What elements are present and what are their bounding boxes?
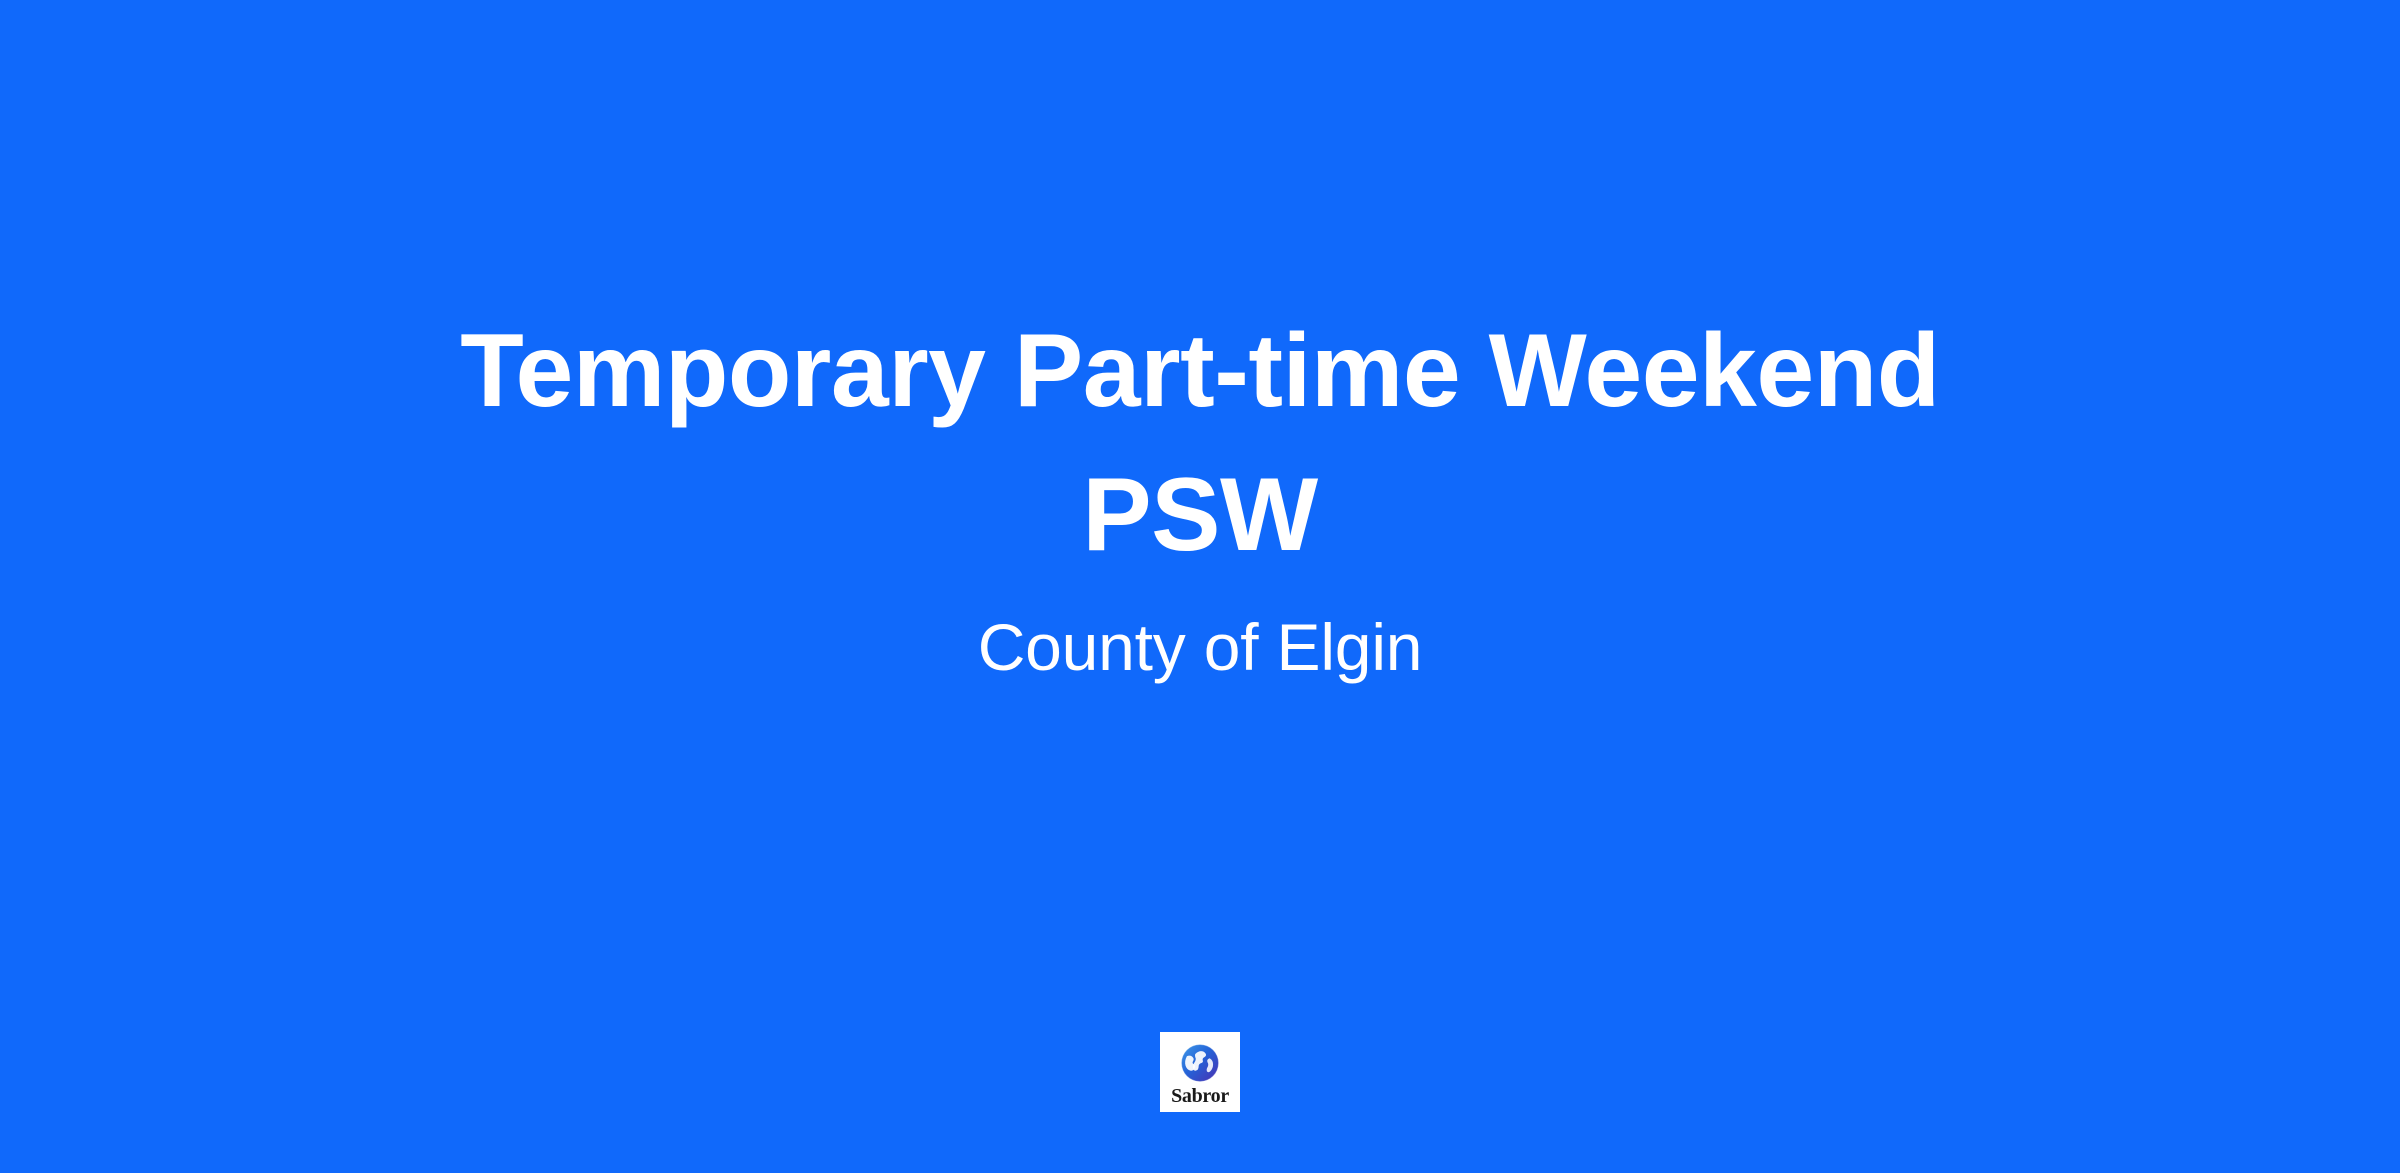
brand-wordmark: Sabror — [1171, 1086, 1229, 1106]
page-title: Temporary Part-time Weekend PSW — [350, 300, 2050, 587]
organization-name: County of Elgin — [978, 605, 1423, 691]
globe-icon — [1178, 1041, 1222, 1085]
brand-logo: Sabror — [1160, 1032, 1240, 1112]
hero-section: Temporary Part-time Weekend PSW County o… — [0, 300, 2400, 691]
job-posting-banner: Temporary Part-time Weekend PSW County o… — [0, 0, 2400, 1173]
